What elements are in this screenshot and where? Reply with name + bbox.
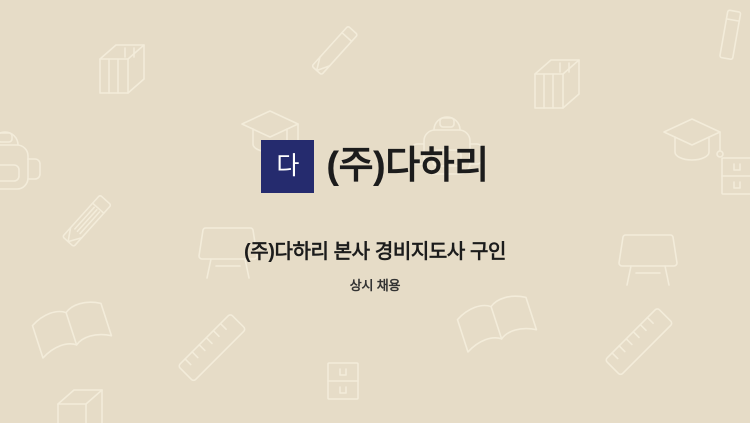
company-name: (주)다하리 [326, 147, 488, 187]
banner-content: 다 (주)다하리 (주)다하리 본사 경비지도사 구인 상시 채용 [0, 0, 750, 423]
brand-row: 다 (주)다하리 [261, 140, 488, 193]
job-posting-banner: 다 (주)다하리 (주)다하리 본사 경비지도사 구인 상시 채용 [0, 0, 750, 423]
hiring-type-label: 상시 채용 [350, 275, 400, 294]
company-logo: 다 [261, 140, 314, 193]
job-posting-title: (주)다하리 본사 경비지도사 구인 [244, 235, 506, 264]
